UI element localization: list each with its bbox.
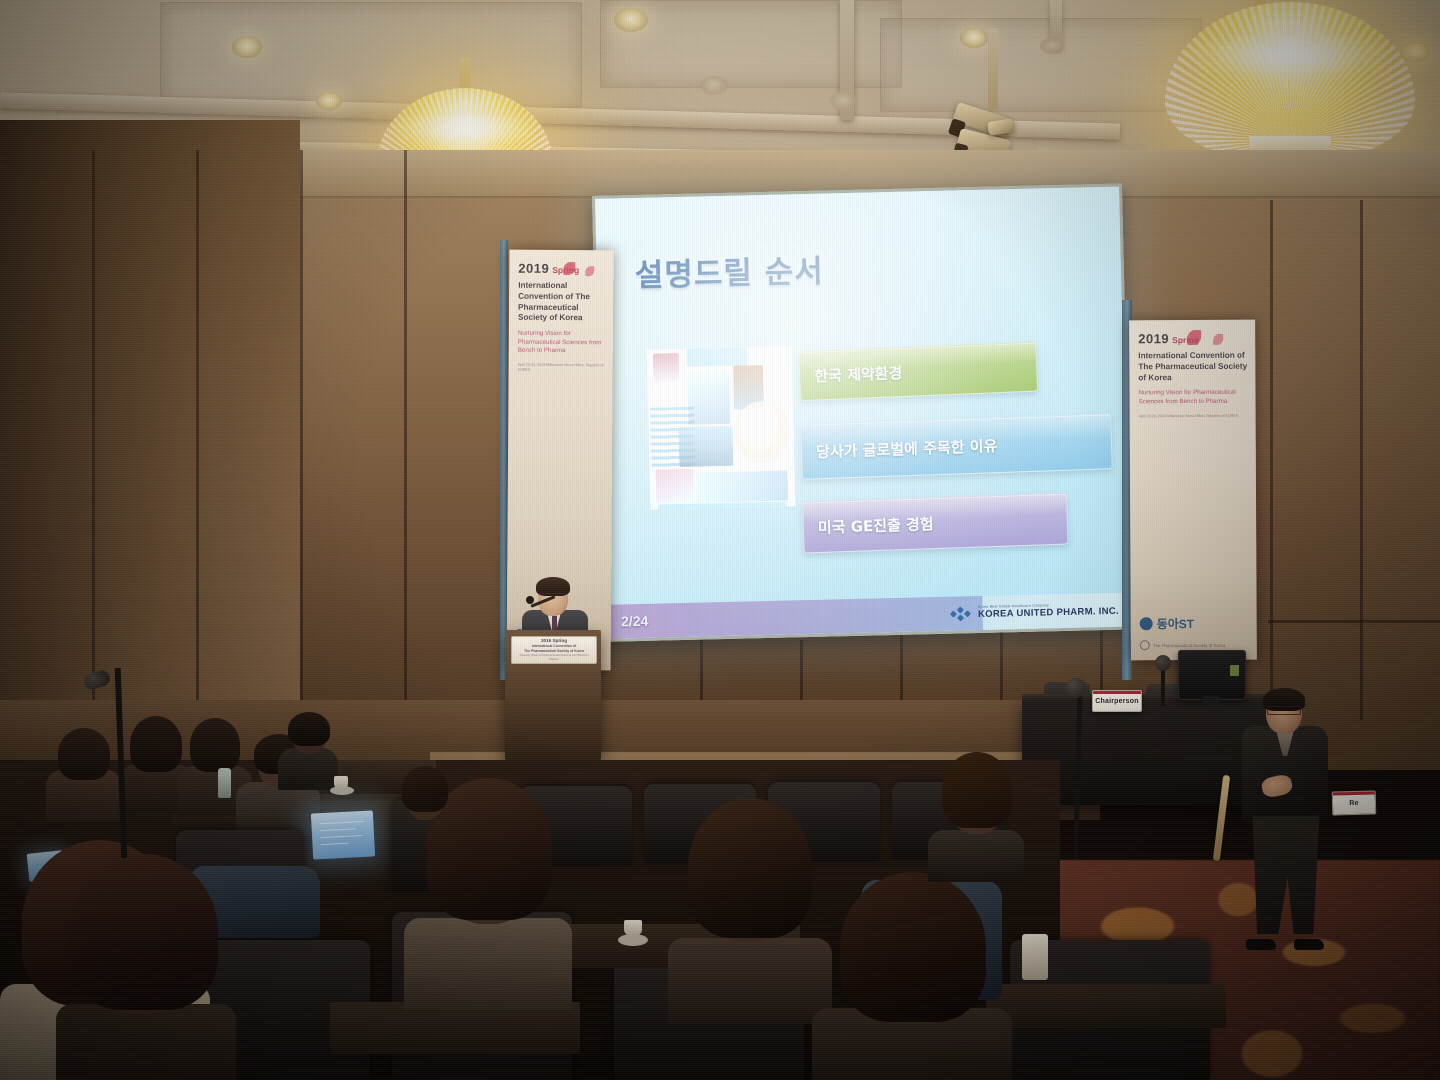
banner-right-year: 2019 bbox=[1138, 331, 1169, 346]
chairperson-name-card: Chairperson bbox=[1092, 690, 1142, 712]
table-microphone-head bbox=[1155, 655, 1171, 671]
coffee-cup bbox=[624, 920, 642, 936]
lectern-sign: 2019 Spring International Convention of … bbox=[511, 636, 597, 664]
sponsor-mark-icon bbox=[1140, 617, 1153, 630]
standing-man bbox=[1232, 688, 1340, 950]
slide-bullet-2-label: 당사가 글로벌에 주목한 이유 bbox=[816, 435, 998, 462]
banner-right-society: The Pharmaceutical Society of Korea bbox=[1140, 640, 1249, 651]
left-wall bbox=[0, 120, 300, 760]
water-bottle bbox=[218, 768, 231, 798]
slide-collage-image bbox=[647, 346, 796, 509]
slide-bullet-1-label: 한국 제약환경 bbox=[814, 362, 903, 387]
audience-person bbox=[392, 766, 458, 852]
slide-bullet-3: 미국 GE진출 경험 bbox=[802, 493, 1069, 554]
chairperson-name-card-label: Chairperson bbox=[1095, 698, 1138, 705]
table-microphone-head bbox=[1066, 678, 1086, 698]
banner-right-title: International Convention of The Pharmace… bbox=[1138, 351, 1247, 384]
presentation-slide: 설명드릴 순서 한국 제약환경 당사가 글로벌에 주목한 이유 bbox=[595, 187, 1129, 639]
slide-bullet-1: 한국 제약환경 bbox=[798, 342, 1038, 402]
monitor-stand bbox=[1203, 696, 1219, 706]
banner-left-season: Spring bbox=[552, 265, 579, 275]
audience-person-foreground bbox=[812, 872, 1012, 1080]
banner-right-meta: April 23-24, 2019 Millennium Seoul Hilto… bbox=[1139, 414, 1248, 420]
audience-person bbox=[278, 712, 338, 786]
recessed-downlight bbox=[1040, 38, 1064, 54]
audience-desk bbox=[986, 984, 1226, 1028]
lectern-sign-year: 2019 Spring bbox=[541, 638, 567, 643]
banner-right: 2019Spring International Convention of T… bbox=[1129, 320, 1257, 661]
audience-laptop-screen bbox=[311, 810, 375, 859]
paper-coffee-cup bbox=[1022, 934, 1048, 980]
lectern-sign-line2: The Pharmaceutical Society of Korea bbox=[524, 649, 584, 653]
projection-screen: 설명드릴 순서 한국 제약환경 당사가 글로벌에 주목한 이유 bbox=[592, 184, 1132, 642]
slide-bullet-2: 당사가 글로벌에 주목한 이유 bbox=[800, 413, 1113, 480]
banner-left-title: International Convention of The Pharmace… bbox=[518, 281, 605, 325]
recessed-downlight bbox=[614, 8, 648, 32]
banner-left-year: 2019 bbox=[518, 261, 549, 276]
recessed-downlight bbox=[232, 36, 262, 58]
banner-right-season: Spring bbox=[1172, 335, 1199, 345]
audience-person-foreground bbox=[56, 854, 236, 1080]
lectern-sign-line3: Nurturing Vision for Pharmaceutical Scie… bbox=[520, 654, 589, 661]
recessed-downlight bbox=[316, 92, 342, 110]
audience-person bbox=[46, 726, 122, 818]
recessed-downlight bbox=[700, 76, 728, 95]
banner-right-sponsor: 동아ST bbox=[1140, 615, 1249, 633]
coffee-cup bbox=[334, 776, 348, 789]
banner-left-meta: April 23-24, 2019 Millennium Seoul Hilto… bbox=[518, 363, 605, 374]
korea-united-pharm-logo: Korea Best Global Healthcare Company KOR… bbox=[951, 602, 1119, 622]
lectern-sign-line1: International Convention of bbox=[532, 644, 576, 648]
second-name-card-label: Re bbox=[1349, 799, 1359, 806]
audience-person-foreground bbox=[668, 798, 832, 1018]
monitor-led-icon bbox=[1230, 665, 1239, 676]
slide-title: 설명드릴 순서 bbox=[634, 246, 824, 295]
society-seal-icon bbox=[1140, 640, 1150, 650]
banner-left-subtitle: Nurturing Vision for Pharmaceutical Scie… bbox=[518, 330, 605, 356]
conference-hall-photo: 설명드릴 순서 한국 제약환경 당사가 글로벌에 주목한 이유 bbox=[0, 0, 1440, 1080]
banner-right-subtitle: Nurturing Vision for Pharmaceutical Scie… bbox=[1138, 389, 1247, 406]
eyeglasses-icon bbox=[1267, 706, 1301, 715]
recessed-downlight bbox=[830, 92, 856, 110]
slide-bullet-3-label: 미국 GE진출 경험 bbox=[818, 513, 934, 538]
pharm-logo-icon bbox=[951, 605, 973, 622]
right-wall bbox=[1230, 150, 1440, 710]
lectern: 2019 Spring International Convention of … bbox=[505, 630, 601, 760]
pharm-logo-name: KOREA UNITED PHARM. INC. bbox=[978, 607, 1119, 620]
slide-page-number: 2/24 bbox=[621, 613, 649, 630]
audience-person bbox=[928, 752, 1024, 878]
